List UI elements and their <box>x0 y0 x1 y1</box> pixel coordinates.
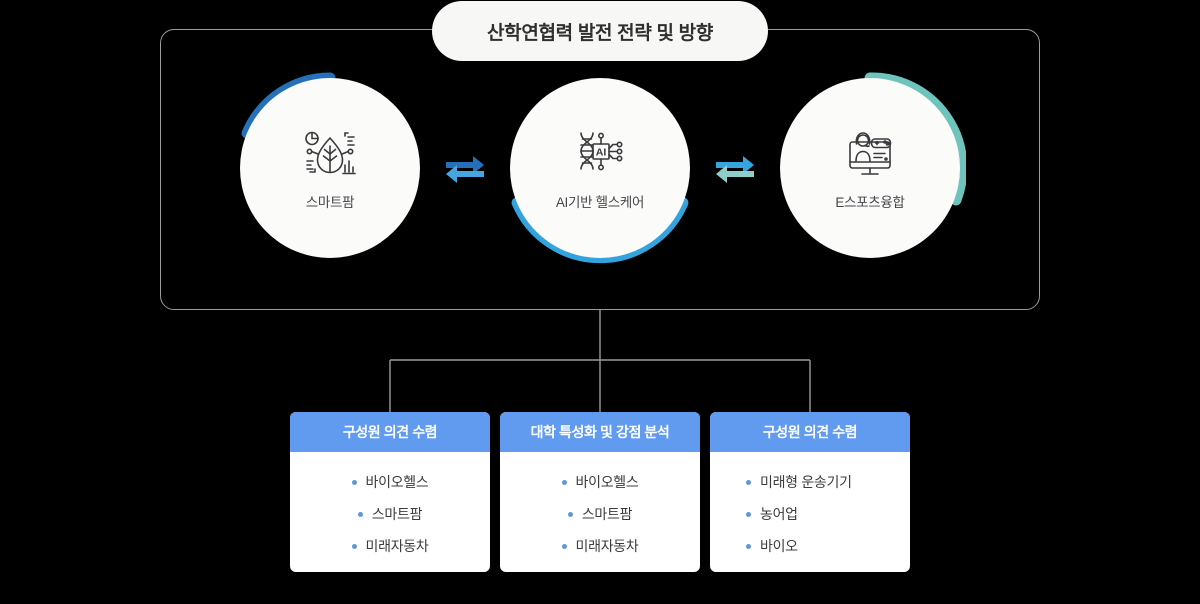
diagram-canvas: 산학연협력 발전 전략 및 방향 <box>0 0 1200 604</box>
detail-card-2[interactable]: 대학 특성화 및 강점 분석 바이오헬스 스마트팜 미래자동차 <box>500 412 700 572</box>
list-item: 미래형 운송기기 <box>746 472 852 492</box>
list-item-label: 스마트팜 <box>372 504 422 524</box>
list-item-label: 바이오헬스 <box>366 472 429 492</box>
card-body: 바이오헬스 스마트팜 미래자동차 <box>290 452 490 572</box>
bullet-dot-icon <box>358 512 363 517</box>
bullet-dot-icon <box>746 544 751 549</box>
detail-card-3[interactable]: 구성원 의견 수렴 미래형 운송기기 농어업 바이오 <box>710 412 910 572</box>
focus-node-label: 스마트팜 <box>306 191 354 211</box>
esports-monitor-gamepad-icon <box>841 126 899 180</box>
list-item-label: 스마트팜 <box>582 504 632 524</box>
exchange-arrows-icon-2 <box>712 148 758 190</box>
page-title: 산학연협력 발전 전략 및 방향 <box>487 18 713 45</box>
smart-farm-leaf-icon <box>301 126 359 180</box>
bullet-dot-icon <box>562 480 567 485</box>
list-item-label: 미래자동차 <box>366 536 429 556</box>
focus-node-disc: AI AI기반 헬스케어 <box>510 78 690 258</box>
card-header: 대학 특성화 및 강점 분석 <box>500 412 700 452</box>
ai-dna-chip-icon: AI <box>571 126 629 180</box>
detail-card-1[interactable]: 구성원 의견 수렴 바이오헬스 스마트팜 미래자동차 <box>290 412 490 572</box>
focus-node-esports[interactable]: E스포츠융합 <box>780 78 960 258</box>
list-item: 바이오 <box>746 536 798 556</box>
card-title: 대학 특성화 및 강점 분석 <box>531 422 670 442</box>
svg-text:AI: AI <box>596 146 607 158</box>
focus-areas-row: 스마트팜 <box>160 78 1040 268</box>
bullet-dot-icon <box>352 544 357 549</box>
diagram-title-pill: 산학연협력 발전 전략 및 방향 <box>432 1 768 61</box>
list-item-label: 미래형 운송기기 <box>760 472 852 492</box>
list-item: 바이오헬스 <box>352 472 429 492</box>
card-title: 구성원 의견 수렴 <box>343 422 437 442</box>
list-item-label: 농어업 <box>760 504 798 524</box>
bullet-dot-icon <box>746 512 751 517</box>
list-item: 농어업 <box>746 504 798 524</box>
list-item-label: 미래자동차 <box>576 536 639 556</box>
list-item-label: 바이오 <box>760 536 798 556</box>
list-item: 미래자동차 <box>562 536 639 556</box>
bullet-dot-icon <box>746 480 751 485</box>
list-item-label: 바이오헬스 <box>576 472 639 492</box>
card-body: 바이오헬스 스마트팜 미래자동차 <box>500 452 700 572</box>
card-header: 구성원 의견 수렴 <box>290 412 490 452</box>
list-item: 스마트팜 <box>568 504 632 524</box>
focus-node-ai-healthcare[interactable]: AI AI기반 헬스케어 <box>510 78 690 258</box>
card-header: 구성원 의견 수렴 <box>710 412 910 452</box>
bullet-dot-icon <box>562 544 567 549</box>
focus-node-smart-farm[interactable]: 스마트팜 <box>240 78 420 258</box>
card-body: 미래형 운송기기 농어업 바이오 <box>710 452 910 572</box>
list-item: 스마트팜 <box>358 504 422 524</box>
bullet-dot-icon <box>352 480 357 485</box>
exchange-arrows-icon-1 <box>442 148 488 190</box>
focus-node-disc: 스마트팜 <box>240 78 420 258</box>
list-item: 바이오헬스 <box>562 472 639 492</box>
focus-node-label: E스포츠융합 <box>835 191 904 211</box>
focus-node-label: AI기반 헬스케어 <box>556 191 644 211</box>
card-title: 구성원 의견 수렴 <box>763 422 857 442</box>
bullet-dot-icon <box>568 512 573 517</box>
list-item: 미래자동차 <box>352 536 429 556</box>
detail-cards-row: 구성원 의견 수렴 바이오헬스 스마트팜 미래자동차 대학 특성화 및 <box>290 412 910 572</box>
focus-node-disc: E스포츠융합 <box>780 78 960 258</box>
